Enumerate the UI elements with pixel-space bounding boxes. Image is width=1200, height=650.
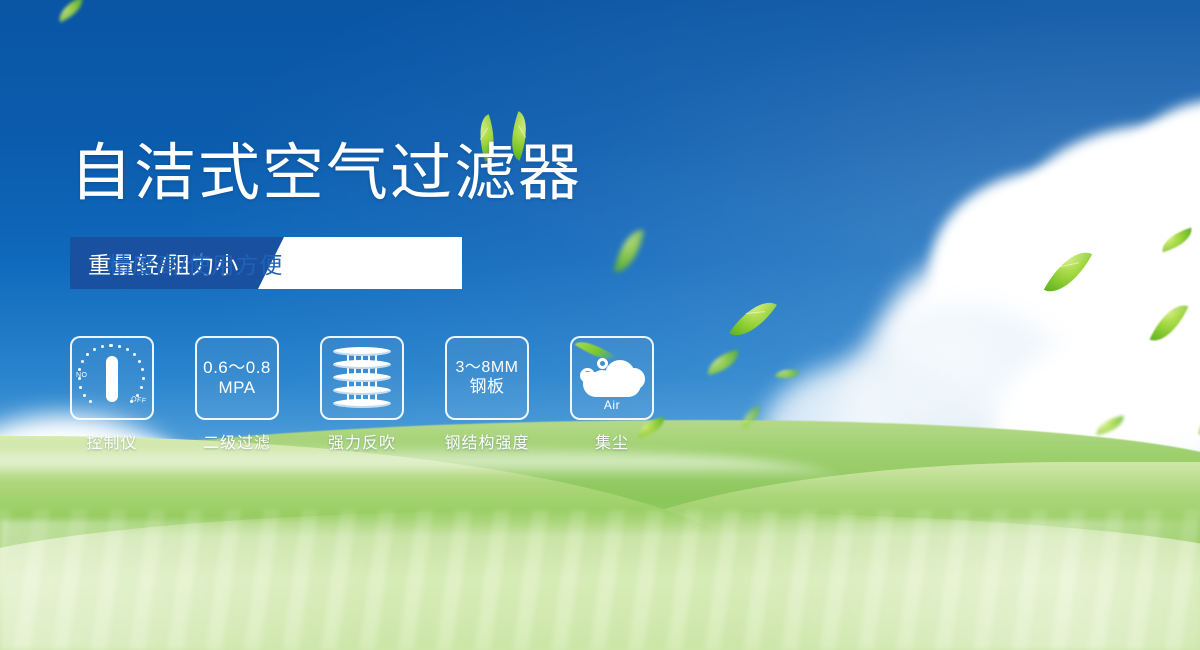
pressure-line1: 0.6〜0.8 (203, 358, 271, 378)
gauge-icon: NO OFF (76, 342, 148, 414)
subtitle-right-text: 精度高/使用方便 (108, 237, 283, 289)
dust-particle-small (597, 358, 608, 369)
leaf-streak-icon (575, 336, 615, 367)
gauge-no-label: NO (76, 372, 88, 379)
steel-line1: 3〜8MM (456, 359, 519, 378)
feature-label: 二级过滤 (203, 429, 271, 453)
air-cloud-icon: Air (577, 346, 647, 410)
feature-label: 钢结构强度 (445, 429, 530, 453)
filter-coil-icon (333, 347, 391, 409)
subtitle-right-panel (258, 237, 462, 289)
feature-icon-box: Air (570, 336, 654, 420)
subtitle-bar: 重量轻/阻力小 精度高/使用方便 (70, 237, 462, 289)
steel-plate-text-icon: 3〜8MM 钢板 (456, 359, 519, 398)
feature-label: 控制仪 (86, 429, 137, 453)
feature-icon-box (320, 336, 404, 420)
gauge-needle (106, 356, 118, 402)
dust-particle-large (580, 368, 595, 383)
feature-icon-box: 3〜8MM 钢板 (445, 336, 529, 420)
pressure-line2: MPA (203, 378, 271, 398)
air-label: Air (577, 398, 647, 412)
steel-line2: 钢板 (456, 377, 519, 397)
feature-item-controller[interactable]: NO OFF 控制仪 (70, 336, 154, 453)
feature-list: NO OFF 控制仪 0.6〜0.8 MPA 二级过滤 (70, 336, 654, 453)
feature-icon-box: NO OFF (70, 336, 154, 420)
feature-item-blowback[interactable]: 强力反吹 (320, 336, 404, 453)
feature-icon-box: 0.6〜0.8 MPA (195, 336, 279, 420)
feature-item-steel[interactable]: 3〜8MM 钢板 钢结构强度 (445, 336, 529, 453)
pressure-text-icon: 0.6〜0.8 MPA (203, 358, 271, 398)
feature-item-pressure[interactable]: 0.6〜0.8 MPA 二级过滤 (195, 336, 279, 453)
feature-label: 集尘 (595, 429, 629, 453)
feature-item-dust[interactable]: Air 集尘 (570, 336, 654, 453)
page-title: 自洁式空气过滤器 (70, 143, 582, 205)
gauge-off-label: OFF (130, 396, 146, 405)
feature-label: 强力反吹 (328, 429, 396, 453)
product-banner: 自洁式空气过滤器 重量轻/阻力小 精度高/使用方便 (0, 0, 1200, 650)
